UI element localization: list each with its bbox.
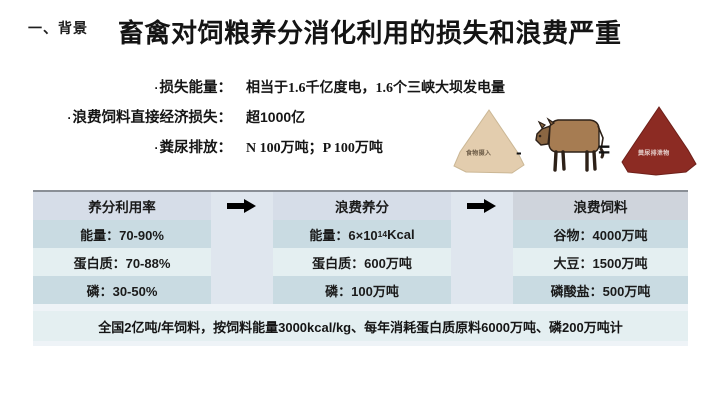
bullet-label: ·损失能量：	[0, 76, 232, 97]
right-arrow-icon	[227, 198, 257, 214]
list-item: ·损失能量： 相当于1.6千亿度电，1.6个三峡大坝发电量	[0, 76, 560, 97]
excreta-label: 粪尿排泄物	[638, 148, 670, 157]
bullet-dot-icon: ·	[155, 141, 159, 155]
bullet-value: N 100万吨；P 100万吨	[246, 137, 383, 157]
spacer-cell	[451, 248, 513, 276]
spacer-cell	[211, 276, 273, 304]
nutrient-loss-table: 养分利用率 浪费养分 浪费饲料 能量：70-90% 能量：6×1014Kcal …	[33, 190, 688, 346]
spacer-cell	[451, 220, 513, 248]
page-title: 畜禽对饲粮养分消化利用的损失和浪费严重	[118, 13, 622, 50]
table-row: 磷：100万吨	[273, 276, 451, 304]
spacer-cell	[211, 248, 273, 276]
bullet-dot-icon: ·	[68, 111, 72, 125]
bullet-value: 超1000亿	[246, 107, 305, 127]
beige-triangle-icon	[450, 108, 528, 176]
bullet-label-text: 损失能量：	[160, 80, 233, 96]
cow-illustration: 畜禽吸收	[532, 112, 606, 179]
bullet-label-text: 浪费饲料直接经济损失：	[73, 110, 233, 126]
wasted-energy-value: 能量：6×10	[309, 225, 377, 244]
bullet-label: ·粪尿排放：	[0, 136, 232, 157]
table-grid: 养分利用率 浪费养分 浪费饲料 能量：70-90% 能量：6×1014Kcal …	[33, 192, 688, 304]
bullet-dot-icon: ·	[155, 81, 159, 95]
energy-exponent: 14	[378, 229, 387, 239]
table-footnote: 全国2亿吨/年饲料，按饲料能量3000kcal/kg、每年消耗蛋白质原料6000…	[33, 311, 688, 341]
table-row: 能量：6×1014Kcal	[273, 220, 451, 248]
table-row: 磷：30-50%	[33, 276, 211, 304]
column-header-utilization: 养分利用率	[33, 192, 211, 220]
table-row: 谷物：4000万吨	[513, 220, 688, 248]
column-header-wasted-feed: 浪费饲料	[513, 192, 688, 220]
cow-icon	[532, 112, 606, 174]
table-row: 能量：70-90%	[33, 220, 211, 248]
food-intake-pile: 食物摄入	[450, 108, 528, 176]
table-row: 蛋白质：70-88%	[33, 248, 211, 276]
table-row: 磷酸盐：500万吨	[513, 276, 688, 304]
excreta-pile: 粪尿排泄物	[616, 104, 700, 178]
minus-operator: -	[516, 144, 522, 161]
bullet-label: ·浪费饲料直接经济损失：	[0, 106, 232, 127]
right-arrow-icon	[467, 198, 497, 214]
equals-operator: =	[598, 140, 610, 161]
energy-unit: Kcal	[387, 227, 414, 242]
food-intake-label: 食物摄入	[466, 148, 491, 157]
arrow-cell-1	[211, 192, 273, 220]
table-row: 蛋白质：600万吨	[273, 248, 451, 276]
column-header-wasted-nutrients: 浪费养分	[273, 192, 451, 220]
table-row: 大豆：1500万吨	[513, 248, 688, 276]
spacer-cell	[451, 276, 513, 304]
bullet-label-text: 粪尿排放：	[160, 140, 233, 156]
spacer-cell	[211, 220, 273, 248]
arrow-cell-2	[451, 192, 513, 220]
dark-red-triangle-icon	[616, 104, 700, 178]
bullet-value: 相当于1.6千亿度电，1.6个三峡大坝发电量	[246, 77, 505, 97]
mass-balance-diagram: 食物摄入 - 畜禽吸收 = 粪尿排泄物	[448, 100, 716, 184]
section-label: 一、背景	[28, 18, 88, 38]
